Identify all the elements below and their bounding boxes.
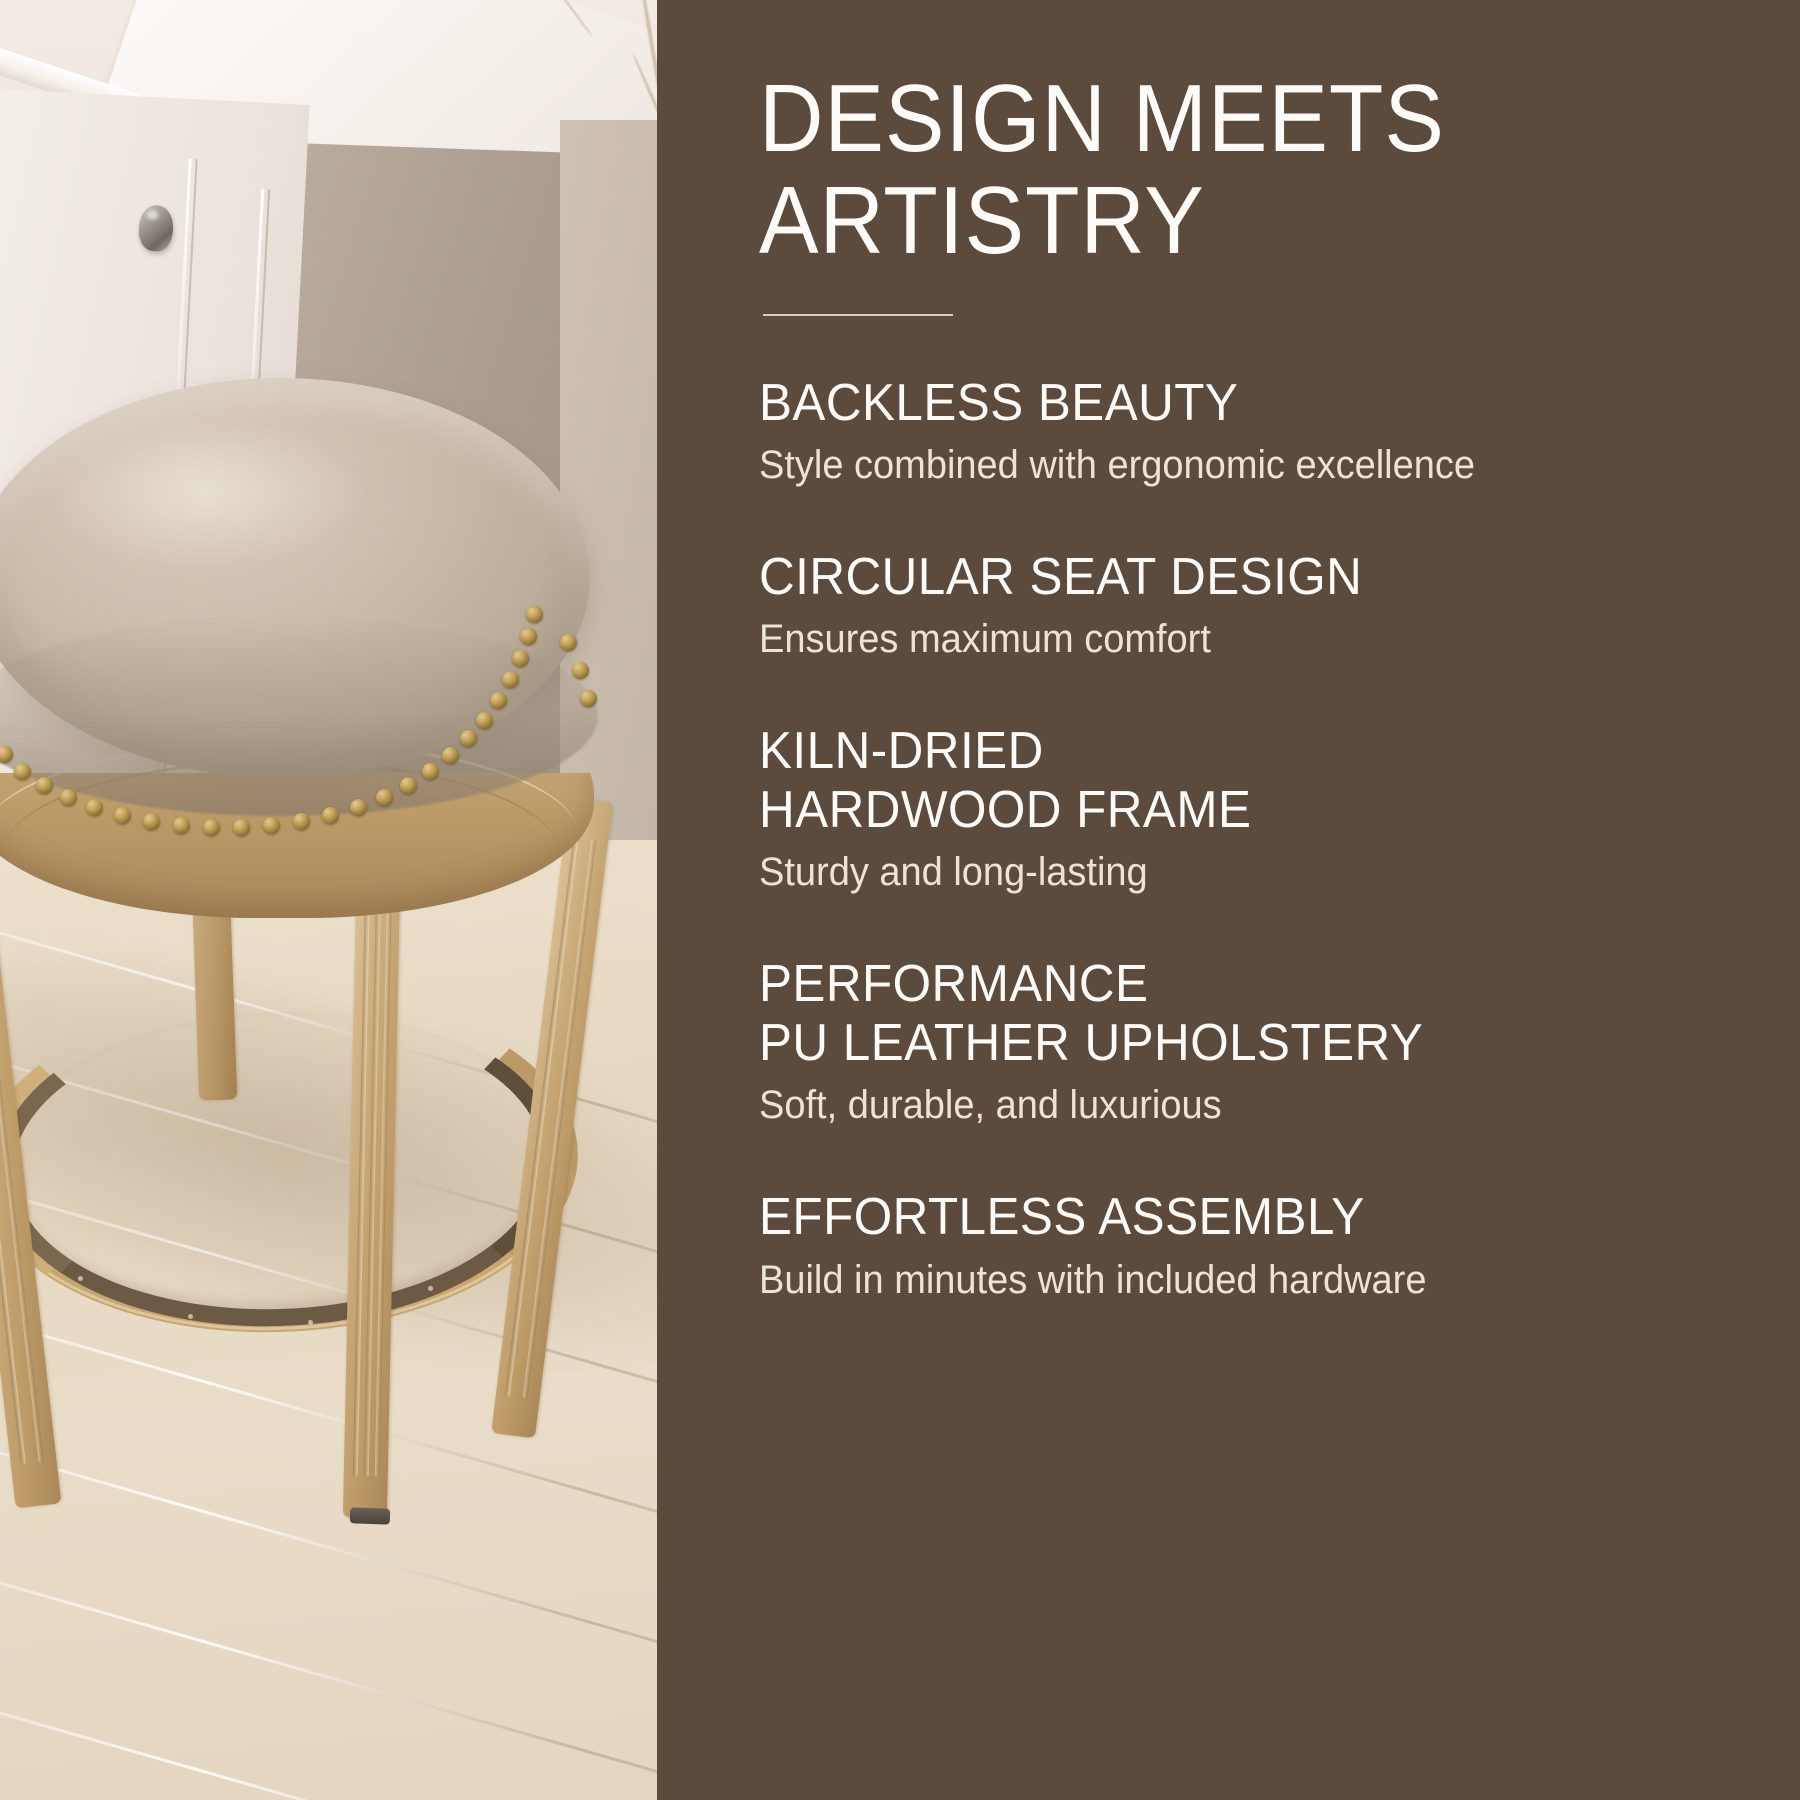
cabinet-knob-icon [138,204,174,252]
nailhead-trim [0,604,602,820]
feature-title: EFFORTLESS ASSEMBLY [759,1188,1691,1247]
feature-description: Ensures maximum comfort [759,615,1519,664]
feature-item: CIRCULAR SEAT DESIGN Ensures maximum com… [759,548,1740,664]
feature-item: EFFORTLESS ASSEMBLY Build in minutes wit… [759,1188,1740,1304]
feature-description: Style combined with ergonomic excellence [759,441,1519,490]
feature-title: PERFORMANCE PU LEATHER UPHOLSTERY [759,955,1691,1074]
feature-description: Build in minutes with included hardware [759,1256,1519,1305]
ring-highlight [0,984,582,1341]
feature-item: PERFORMANCE PU LEATHER UPHOLSTERY Soft, … [759,955,1740,1130]
page-title: DESIGN MEETS ARTISTRY [759,68,1671,272]
feature-copy-panel: DESIGN MEETS ARTISTRY BACKLESS BEAUTY St… [657,0,1800,1800]
product-feature-infographic: DESIGN MEETS ARTISTRY BACKLESS BEAUTY St… [0,0,1800,1800]
seat-highlight [42,418,372,568]
product-photo [0,0,657,1800]
counter-stool [0,368,638,1548]
feature-item: KILN-DRIED HARDWOOD FRAME Sturdy and lon… [759,722,1740,897]
title-divider [763,314,953,316]
feature-description: Soft, durable, and luxurious [759,1081,1519,1130]
photo-scene [0,0,657,1800]
feature-title: CIRCULAR SEAT DESIGN [759,548,1691,607]
feature-title: KILN-DRIED HARDWOOD FRAME [759,722,1691,841]
feature-title: BACKLESS BEAUTY [759,374,1691,433]
stool-leg-front [343,838,401,1519]
feature-list: BACKLESS BEAUTY Style combined with ergo… [759,374,1740,1305]
feature-description: Sturdy and long-lasting [759,848,1519,897]
stool-foot-cap [350,1507,391,1524]
feature-item: BACKLESS BEAUTY Style combined with ergo… [759,374,1740,490]
